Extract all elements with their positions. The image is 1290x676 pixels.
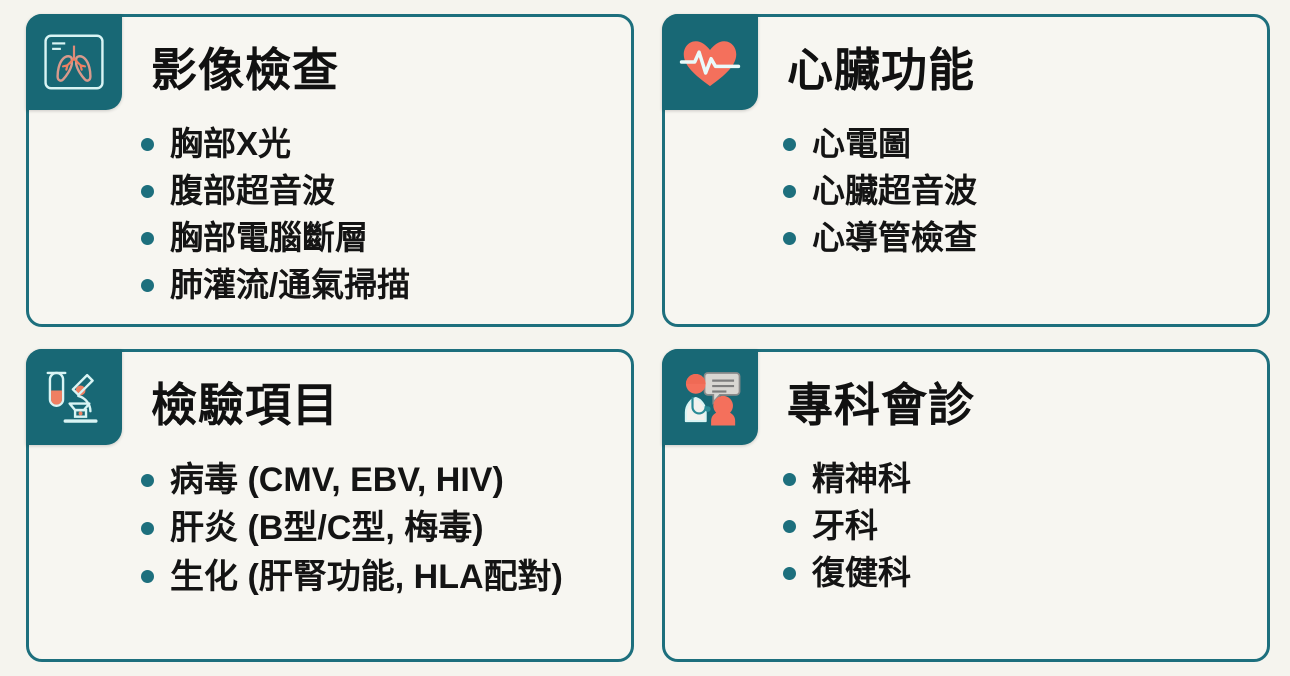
bullet-icon xyxy=(141,474,154,487)
list-item-label: 肺灌流/通氣掃描 xyxy=(170,262,410,309)
bullet-icon xyxy=(141,138,154,151)
list-item-label: 肝炎 (B型/C型, 梅毒) xyxy=(170,504,484,552)
bullet-icon xyxy=(783,520,796,533)
bullet-icon xyxy=(141,232,154,245)
doctor-patient-consult-icon xyxy=(662,349,758,445)
list-item-label: 病毒 (CMV, EBV, HIV) xyxy=(170,456,504,504)
card-header: 檢驗項目 xyxy=(43,362,617,448)
list-item[interactable]: 心臟超音波 xyxy=(783,168,1253,215)
card-header: 影像檢查 xyxy=(43,27,617,113)
list-item[interactable]: 復健科 xyxy=(783,550,1253,597)
list-item[interactable]: 胸部X光 xyxy=(141,121,617,168)
card-item-list: 胸部X光 腹部超音波 胸部電腦斷層 肺灌流/通氣掃描 xyxy=(43,121,617,308)
list-item[interactable]: 心導管檢查 xyxy=(783,215,1253,262)
bullet-icon xyxy=(783,567,796,580)
list-item-label: 胸部電腦斷層 xyxy=(170,215,368,262)
list-item-label: 復健科 xyxy=(812,550,911,597)
list-item[interactable]: 牙科 xyxy=(783,503,1253,550)
bullet-icon xyxy=(141,522,154,535)
list-item-label: 心電圖 xyxy=(812,121,911,168)
bullet-icon xyxy=(783,185,796,198)
list-item[interactable]: 肝炎 (B型/C型, 梅毒) xyxy=(141,504,617,552)
list-item-label: 心導管檢查 xyxy=(812,215,977,262)
list-item[interactable]: 胸部電腦斷層 xyxy=(141,215,617,262)
card-item-list: 病毒 (CMV, EBV, HIV) 肝炎 (B型/C型, 梅毒) 生化 (肝腎… xyxy=(43,456,617,601)
card-header: 心臟功能 xyxy=(679,27,1253,113)
bullet-icon xyxy=(783,232,796,245)
bullet-icon xyxy=(783,473,796,486)
card-title: 心臟功能 xyxy=(787,47,975,93)
card-consult[interactable]: 專科會診 精神科 牙科 復健科 xyxy=(662,349,1270,662)
card-imaging[interactable]: 影像檢查 胸部X光 腹部超音波 胸部電腦斷層 肺灌流/通氣掃描 xyxy=(26,14,634,327)
card-cardiac[interactable]: 心臟功能 心電圖 心臟超音波 心導管檢查 xyxy=(662,14,1270,327)
list-item[interactable]: 生化 (肝腎功能, HLA配對) xyxy=(141,553,617,601)
bullet-icon xyxy=(141,185,154,198)
checklist-board: 影像檢查 胸部X光 腹部超音波 胸部電腦斷層 肺灌流/通氣掃描 心臟功能 心電圖… xyxy=(0,0,1290,676)
list-item-label: 胸部X光 xyxy=(170,121,291,168)
lung-xray-icon xyxy=(26,14,122,110)
card-item-list: 心電圖 心臟超音波 心導管檢查 xyxy=(679,121,1253,262)
list-item[interactable]: 精神科 xyxy=(783,456,1253,503)
card-lab[interactable]: 檢驗項目 病毒 (CMV, EBV, HIV) 肝炎 (B型/C型, 梅毒) 生… xyxy=(26,349,634,662)
list-item[interactable]: 病毒 (CMV, EBV, HIV) xyxy=(141,456,617,504)
card-item-list: 精神科 牙科 復健科 xyxy=(679,456,1253,597)
bullet-icon xyxy=(783,138,796,151)
microscope-testtube-icon xyxy=(26,349,122,445)
list-item-label: 腹部超音波 xyxy=(170,168,335,215)
card-title: 檢驗項目 xyxy=(151,382,339,428)
list-item-label: 心臟超音波 xyxy=(812,168,977,215)
bullet-icon xyxy=(141,279,154,292)
list-item-label: 牙科 xyxy=(812,503,878,550)
card-title: 影像檢查 xyxy=(151,47,339,93)
list-item[interactable]: 腹部超音波 xyxy=(141,168,617,215)
card-title: 專科會診 xyxy=(787,382,975,428)
list-item-label: 生化 (肝腎功能, HLA配對) xyxy=(170,553,563,601)
card-header: 專科會診 xyxy=(679,362,1253,448)
bullet-icon xyxy=(141,570,154,583)
list-item[interactable]: 心電圖 xyxy=(783,121,1253,168)
list-item[interactable]: 肺灌流/通氣掃描 xyxy=(141,262,617,309)
heart-pulse-icon xyxy=(662,14,758,110)
list-item-label: 精神科 xyxy=(812,456,911,503)
